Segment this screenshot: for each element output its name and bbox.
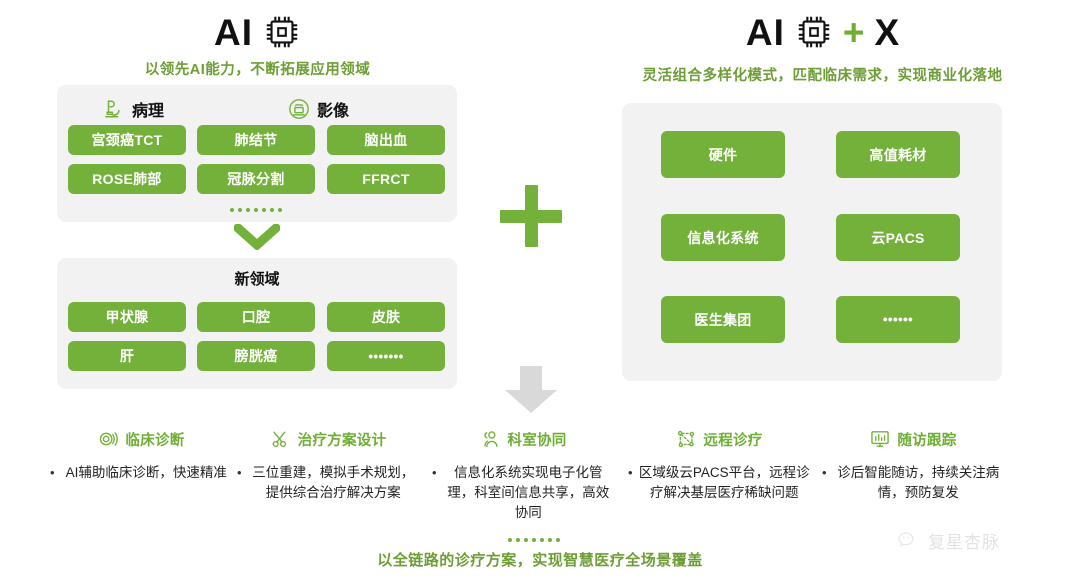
feature-body: • 诊后智能随访，持续关注病情，预防复发 [822, 463, 1004, 503]
feature-item: 治疗方案设计 • 三位重建，模拟手术规划，提供综合治疗解决方案 [237, 428, 419, 503]
new-field-box[interactable]: ••••••• [327, 341, 445, 371]
capability-box[interactable]: 医生集团 [661, 296, 785, 343]
bullet: • [432, 463, 437, 483]
bullet: • [822, 463, 827, 483]
microscope-icon [103, 98, 125, 120]
new-field-box[interactable]: 皮肤 [327, 302, 445, 332]
chip-icon [795, 13, 833, 51]
capability-box[interactable]: 云PACS [836, 214, 960, 261]
feature-item: 科室协同 • 信息化系统实现电子化管理，科室间信息共享，高效协同 [432, 428, 614, 523]
domain-box[interactable]: 宫颈癌TCT [68, 125, 186, 155]
feature-text: 区域级云PACS平台，远程诊疗解决基层医疗稀缺问题 [639, 463, 810, 503]
feature-header: 治疗方案设计 [237, 428, 419, 450]
feature-title: 随访跟踪 [897, 429, 956, 450]
domain-box[interactable]: FFRCT [327, 164, 445, 194]
new-field-label: 新领域 [57, 268, 457, 289]
feature-text: 三位重建，模拟手术规划，提供综合治疗解决方案 [248, 463, 419, 503]
feature-header: 远程诊疗 [628, 428, 810, 450]
scissors-icon [270, 428, 292, 450]
panel-header-imaging-label: 影像 [317, 97, 349, 121]
feature-title: 治疗方案设计 [298, 429, 387, 450]
feature-body: • 区域级云PACS平台，远程诊疗解决基层医疗稀缺问题 [628, 463, 810, 503]
wechat-icon [897, 531, 921, 551]
more-dots-pathology [230, 208, 282, 212]
left-subtitle: 以领先AI能力，不断拓展应用领域 [0, 58, 515, 79]
monitor-chart-icon [869, 428, 891, 450]
footer-dots [508, 538, 560, 542]
new-field-box[interactable]: 口腔 [197, 302, 315, 332]
feature-body: • 三位重建，模拟手术规划，提供综合治疗解决方案 [237, 463, 419, 503]
feature-title: 远程诊疗 [703, 429, 762, 450]
ct-scanner-icon [288, 98, 310, 120]
people-icon [479, 428, 501, 450]
right-title-plus: + [843, 14, 865, 51]
feature-header: 随访跟踪 [822, 428, 1004, 450]
panel-header-pathology: 病理 [103, 97, 164, 121]
mri-icon [97, 428, 119, 450]
chip-icon [263, 13, 301, 51]
feature-body: • AI辅助临床诊断，快速精准 [50, 463, 232, 483]
watermark-label: 复星杏脉 [928, 528, 1000, 553]
bullet: • [50, 463, 55, 483]
panel-header-imaging: 影像 [288, 97, 349, 121]
capability-box[interactable]: 高值耗材 [836, 131, 960, 178]
capability-box[interactable]: 信息化系统 [661, 214, 785, 261]
domain-box[interactable]: 脑出血 [327, 125, 445, 155]
slide-canvas: AI 以领先AI能力，不断拓展应用领域 病理 [0, 0, 1080, 583]
feature-text: 诊后智能随访，持续关注病情，预防复发 [833, 463, 1004, 503]
right-title-text: AI [746, 14, 785, 51]
feature-header: 科室协同 [432, 428, 614, 450]
right-title: AI + X [565, 8, 1080, 56]
bullet: • [628, 463, 633, 483]
domain-box[interactable]: 冠脉分割 [197, 164, 315, 194]
feature-text: 信息化系统实现电子化管理，科室间信息共享，高效协同 [443, 463, 614, 523]
domain-box[interactable]: 肺结节 [197, 125, 315, 155]
feature-title: 科室协同 [507, 429, 566, 450]
domain-box[interactable]: ROSE肺部 [68, 164, 186, 194]
feature-header: 临床诊断 [50, 428, 232, 450]
left-title-text: AI [214, 14, 253, 51]
feature-text: AI辅助临床诊断，快速精准 [61, 463, 232, 483]
right-title-x: X [874, 14, 899, 51]
feature-title: 临床诊断 [125, 429, 184, 450]
new-field-box[interactable]: 膀胱癌 [197, 341, 315, 371]
new-field-box[interactable]: 肝 [68, 341, 186, 371]
panel-header-pathology-label: 病理 [132, 97, 164, 121]
plus-sign [500, 185, 562, 247]
feature-item: 随访跟踪 • 诊后智能随访，持续关注病情，预防复发 [822, 428, 1004, 503]
bullet: • [237, 463, 242, 483]
capability-box[interactable]: 硬件 [661, 131, 785, 178]
feature-item: 临床诊断 • AI辅助临床诊断，快速精准 [50, 428, 232, 483]
feature-item: 远程诊疗 • 区域级云PACS平台，远程诊疗解决基层医疗稀缺问题 [628, 428, 810, 503]
feature-body: • 信息化系统实现电子化管理，科室间信息共享，高效协同 [432, 463, 614, 523]
left-title: AI [0, 8, 515, 56]
right-subtitle: 灵活组合多样化模式，匹配临床需求，实现商业化落地 [565, 64, 1080, 85]
watermark: 复星杏脉 [897, 528, 1000, 553]
network-icon [675, 428, 697, 450]
chevron-down-icon [234, 224, 280, 250]
capability-box[interactable]: •••••• [836, 296, 960, 343]
arrow-down-icon [503, 366, 559, 414]
new-field-box[interactable]: 甲状腺 [68, 302, 186, 332]
